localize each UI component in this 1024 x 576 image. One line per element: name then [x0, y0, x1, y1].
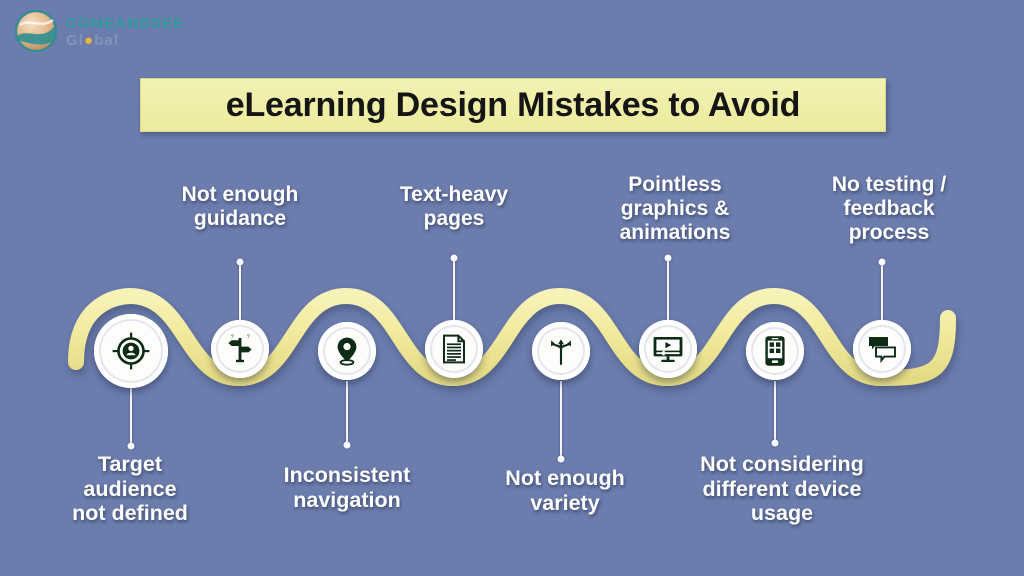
map-pin-icon: [333, 336, 361, 366]
branching-arrows-icon: [546, 336, 576, 366]
step-label-2: Not enough guidance: [182, 183, 299, 231]
step-node-3[interactable]: [318, 322, 376, 380]
connector-line-4: [453, 258, 455, 320]
step-label-4: Text-heavy pages: [400, 183, 508, 231]
connector-dot-5: [558, 456, 565, 463]
step-label-5: Not enough variety: [505, 466, 624, 515]
svg-text:?: ?: [239, 354, 242, 360]
connector-line-1: [130, 388, 132, 446]
connector-dot-4: [451, 255, 458, 262]
speech-bubbles-icon: [866, 335, 898, 363]
step-node-5[interactable]: [532, 322, 590, 380]
connector-dot-7: [772, 440, 779, 447]
step-label-3: Inconsistent navigation: [284, 463, 411, 512]
step-label-8: No testing / feedback process: [832, 173, 946, 245]
connector-dot-8: [879, 259, 886, 266]
connector-dot-3: [344, 442, 351, 449]
step-node-1[interactable]: [94, 314, 168, 388]
monitor-play-icon: [652, 335, 684, 363]
connector-line-6: [667, 258, 669, 320]
svg-text:?: ?: [231, 335, 234, 341]
document-lines-icon: [441, 334, 467, 364]
step-node-2[interactable]: ? ? ?: [211, 320, 269, 378]
step-node-4[interactable]: [425, 320, 483, 378]
slide-canvas: COMEANDSEE Gl●bal eLearning Design Mista…: [0, 0, 1024, 576]
step-label-7: Not considering different device usage: [700, 452, 864, 526]
connector-line-3: [346, 381, 348, 445]
connector-line-8: [881, 262, 883, 320]
connector-dot-6: [665, 255, 672, 262]
step-label-1: Target audience not defined: [72, 452, 188, 526]
connector-line-7: [774, 381, 776, 443]
signpost-question-icon: ? ? ?: [225, 334, 255, 364]
step-node-6[interactable]: [639, 320, 697, 378]
connector-dot-2: [237, 259, 244, 266]
step-node-8[interactable]: [853, 320, 911, 378]
connector-line-2: [239, 262, 241, 320]
svg-text:?: ?: [247, 335, 250, 341]
step-node-7[interactable]: [746, 322, 804, 380]
smartphone-icon: [764, 335, 786, 367]
connector-line-5: [560, 381, 562, 459]
connector-dot-1: [128, 443, 135, 450]
target-audience-icon: [112, 332, 150, 370]
step-label-6: Pointless graphics & animations: [620, 173, 731, 245]
